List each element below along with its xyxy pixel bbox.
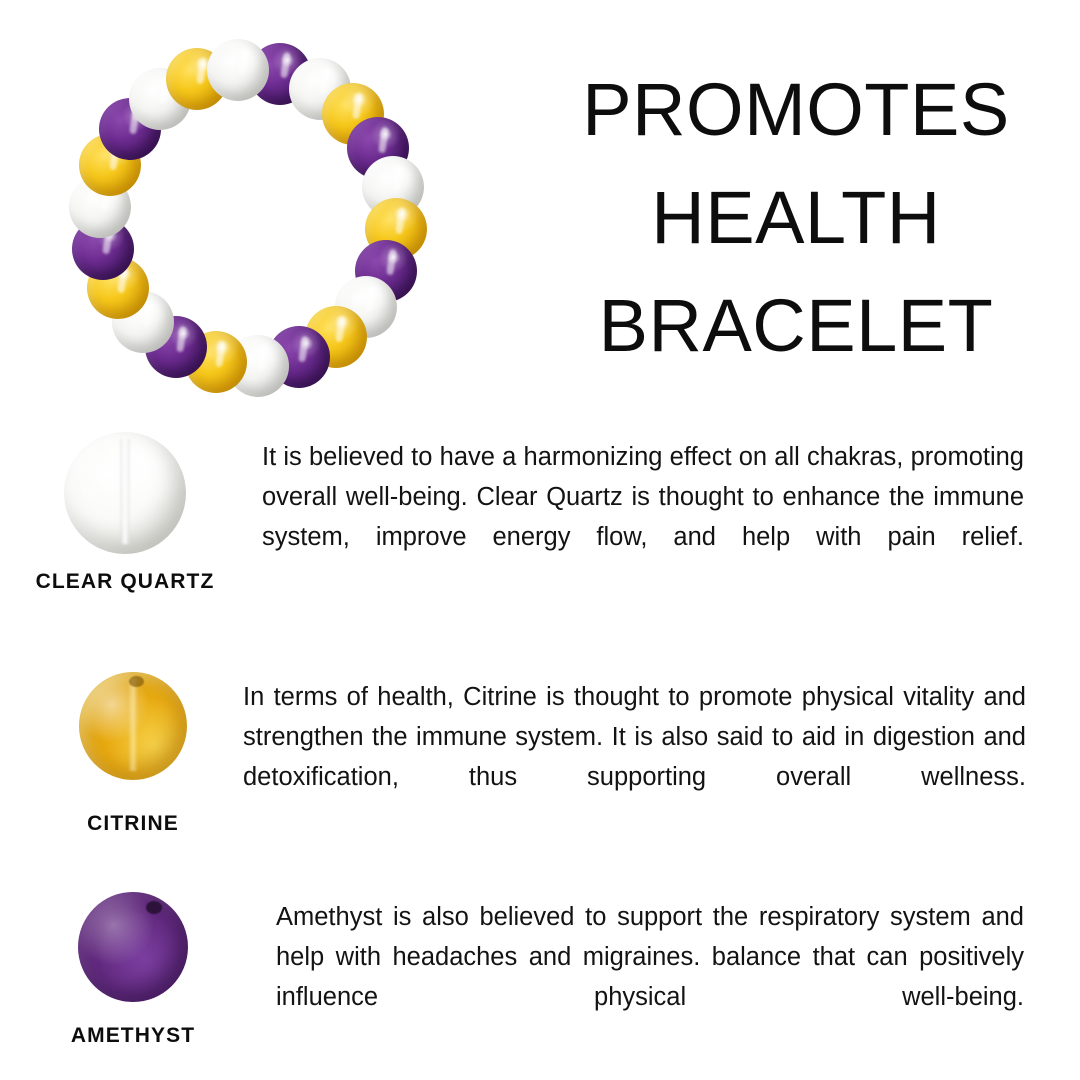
title-line-3: BRACELET [540, 272, 1052, 380]
title-line-1: PROMOTES [540, 56, 1052, 164]
stone-figure-citrine: CITRINE [8, 672, 258, 836]
stone-label-citrine: CITRINE [8, 812, 258, 836]
bracelet-bead-ring [68, 38, 428, 398]
stone-figure-amethyst: AMETHYST [8, 892, 258, 1048]
stone-label-clear-quartz: CLEAR QUARTZ [0, 570, 250, 594]
stone-label-amethyst: AMETHYST [8, 1024, 258, 1048]
stone-figure-clear-quartz: CLEAR QUARTZ [0, 432, 250, 594]
bead-drill-highlight [128, 678, 138, 771]
bead-drill-highlight [120, 439, 130, 544]
clear-quartz-bead-icon [64, 432, 186, 554]
bracelet-product-image [68, 38, 428, 398]
amethyst-bead-icon [78, 892, 188, 1002]
stone-description-clear-quartz: It is believed to have a harmonizing eff… [262, 438, 1024, 597]
title-line-2: HEALTH [540, 164, 1052, 272]
stone-description-amethyst: Amethyst is also believed to support the… [276, 898, 1024, 1057]
stone-description-citrine: In terms of health, Citrine is thought t… [243, 678, 1026, 837]
page-title: PROMOTES HEALTH BRACELET [540, 56, 1052, 380]
product-infographic-page: PROMOTES HEALTH BRACELET CLEAR QUARTZ It… [0, 0, 1080, 1080]
bead-drill-hole [129, 676, 144, 687]
citrine-bead-icon [79, 672, 187, 780]
bead-drill-hole [146, 901, 162, 914]
